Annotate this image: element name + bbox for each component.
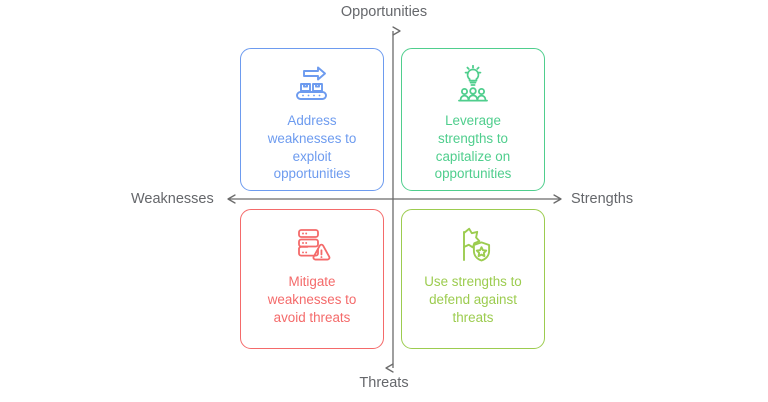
flag-shield-star-icon [447,223,499,269]
axis-label-threats: Threats [0,375,768,392]
quadrant-card-weaknesses-threats[interactable]: Mitigate weaknesses to avoid threats [240,209,384,349]
quadrant-card-strengths-opportunities[interactable]: Leverage strengths to capitalize on oppo… [401,48,545,191]
quadrant-text-weaknesses-threats: Mitigate weaknesses to avoid threats [260,273,365,326]
quadrant-card-weaknesses-opportunities[interactable]: Address weaknesses to exploit opportunit… [240,48,384,191]
axis-label-weaknesses: Weaknesses [131,191,214,208]
axes-group [0,0,768,402]
quadrant-text-strengths-opportunities: Leverage strengths to capitalize on oppo… [427,112,520,183]
quadrant-text-weaknesses-opportunities: Address weaknesses to exploit opportunit… [260,112,365,183]
quadrant-card-strengths-threats[interactable]: Use strengths to defend against threats [401,209,545,349]
swot-matrix-diagram: Opportunities Threats Weaknesses Strengt… [0,0,768,402]
axis-label-opportunities: Opportunities [0,4,768,21]
axis-label-strengths: Strengths [571,191,633,208]
conveyor-belt-arrow-icon [286,62,338,108]
lightbulb-team-icon [447,62,499,108]
quadrant-text-strengths-threats: Use strengths to defend against threats [416,273,530,326]
server-warning-icon [286,223,338,269]
